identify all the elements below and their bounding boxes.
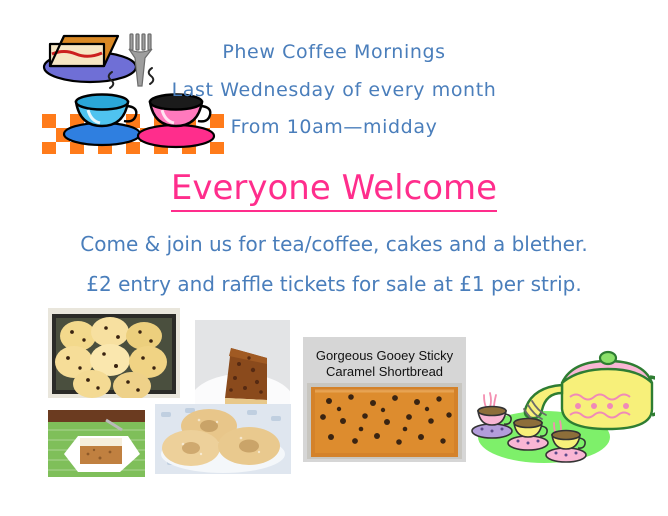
shortbread-label-line-2: Caramel Shortbread <box>326 364 443 379</box>
photo-sugared-doughnuts <box>155 404 291 474</box>
teapot-pouring-clipart <box>470 345 655 470</box>
poster-heading-line-2: Last Wednesday of every month <box>0 79 668 101</box>
shortbread-label-line-1: Gorgeous Gooey Sticky <box>316 348 454 363</box>
poster-heading-line-3: From 10am—midday <box>0 116 668 138</box>
photo-scones <box>48 308 180 398</box>
poster-canvas: Phew Coffee Mornings Last Wednesday of e… <box>0 0 668 516</box>
poster-body-line-2: £2 entry and raffle tickets for sale at … <box>0 272 668 296</box>
poster-heading-line-1: Phew Coffee Mornings <box>0 41 668 63</box>
poster-body-line-1: Come & join us for tea/coffee, cakes and… <box>0 232 668 256</box>
photo-carrot-cake-slice <box>48 410 145 477</box>
everyone-welcome-text: Everyone Welcome <box>171 168 497 212</box>
everyone-welcome-title: Everyone Welcome <box>0 168 668 208</box>
photo-caramel-shortbread: Gorgeous Gooey Sticky Caramel Shortbread <box>303 337 466 462</box>
